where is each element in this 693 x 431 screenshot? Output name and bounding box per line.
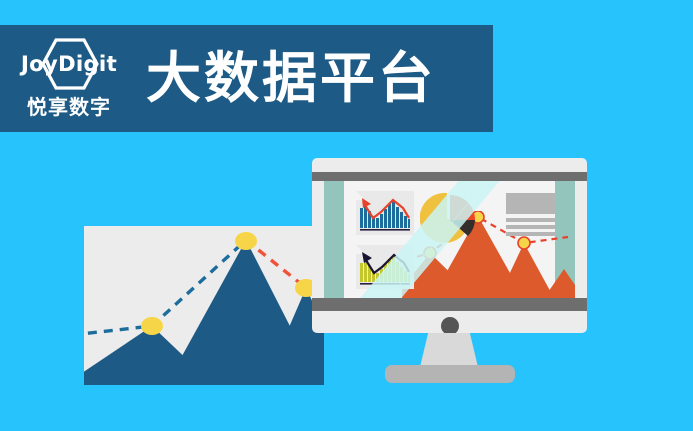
left-chart-panel — [84, 226, 324, 385]
screen-left-accent — [324, 181, 344, 298]
axis-line — [360, 229, 410, 231]
data-marker — [141, 317, 163, 335]
monitor-bottom-bar — [312, 298, 587, 311]
blue-bar-chart-card — [356, 191, 414, 235]
mountain-shape-far-right — [544, 269, 575, 298]
monitor-stand-neck — [420, 333, 478, 367]
power-indicator-icon — [441, 317, 459, 335]
placeholder-image — [506, 193, 556, 214]
blue-bar-chart — [360, 196, 410, 232]
placeholder-line — [506, 218, 556, 222]
header-banner: JoyDigit 悦享数字 大数据平台 — [0, 25, 493, 132]
logo-subtitle: 悦享数字 — [14, 91, 124, 120]
poster-canvas: JoyDigit 悦享数字 大数据平台 — [0, 0, 693, 431]
logo-wordmark: JoyDigit — [14, 52, 124, 76]
monitor-bezel — [312, 158, 587, 333]
monitor-stand-base — [385, 365, 515, 383]
placeholder-line — [506, 225, 556, 229]
monitor-top-bar — [312, 172, 587, 181]
data-marker — [518, 237, 530, 249]
page-title: 大数据平台 — [146, 51, 436, 106]
data-marker — [235, 232, 257, 250]
text-placeholder-block — [506, 193, 556, 236]
placeholder-line — [506, 232, 556, 236]
brand-logo: JoyDigit 悦享数字 — [14, 36, 124, 122]
monitor-screen — [324, 181, 575, 298]
blue-mountain-area-chart — [84, 226, 324, 385]
